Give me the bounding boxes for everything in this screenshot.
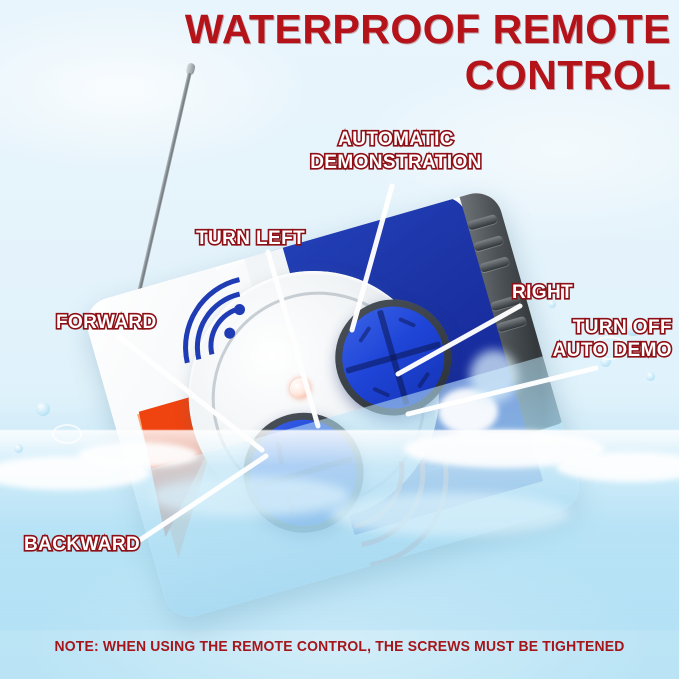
- label-demonstration: DEMONSTRATION: [296, 151, 496, 174]
- label-turn-off: TURN OFF: [436, 316, 672, 339]
- water-droplet: [646, 372, 655, 381]
- label-auto-demo: AUTO DEMO: [436, 339, 672, 362]
- infographic-canvas: 2.4GHz WATERPROOF REMOTE CONTROL: [0, 0, 679, 679]
- water-droplet: [14, 444, 23, 453]
- label-automatic-demonstration: AUTOMATIC DEMONSTRATION: [296, 128, 496, 174]
- water-foam: [78, 442, 198, 468]
- water-foam: [150, 476, 350, 516]
- label-backward: BACKWARD: [24, 534, 140, 556]
- label-right: RIGHT: [512, 282, 573, 304]
- label-turn-left: TURN LEFT: [196, 228, 305, 250]
- page-title: WATERPROOF REMOTE CONTROL: [111, 6, 671, 98]
- water-ring: [52, 424, 82, 444]
- title-line-1: WATERPROOF REMOTE: [185, 6, 671, 52]
- water-droplet: [36, 402, 50, 416]
- title-line-2: CONTROL: [111, 52, 671, 98]
- water-foam: [330, 492, 570, 536]
- footer-note: NOTE: WHEN USING THE REMOTE CONTROL, THE…: [24, 638, 655, 655]
- label-forward: FORWARD: [56, 312, 157, 334]
- label-turn-off-auto-demo: TURN OFF AUTO DEMO: [436, 316, 672, 362]
- label-automatic: AUTOMATIC: [296, 128, 496, 151]
